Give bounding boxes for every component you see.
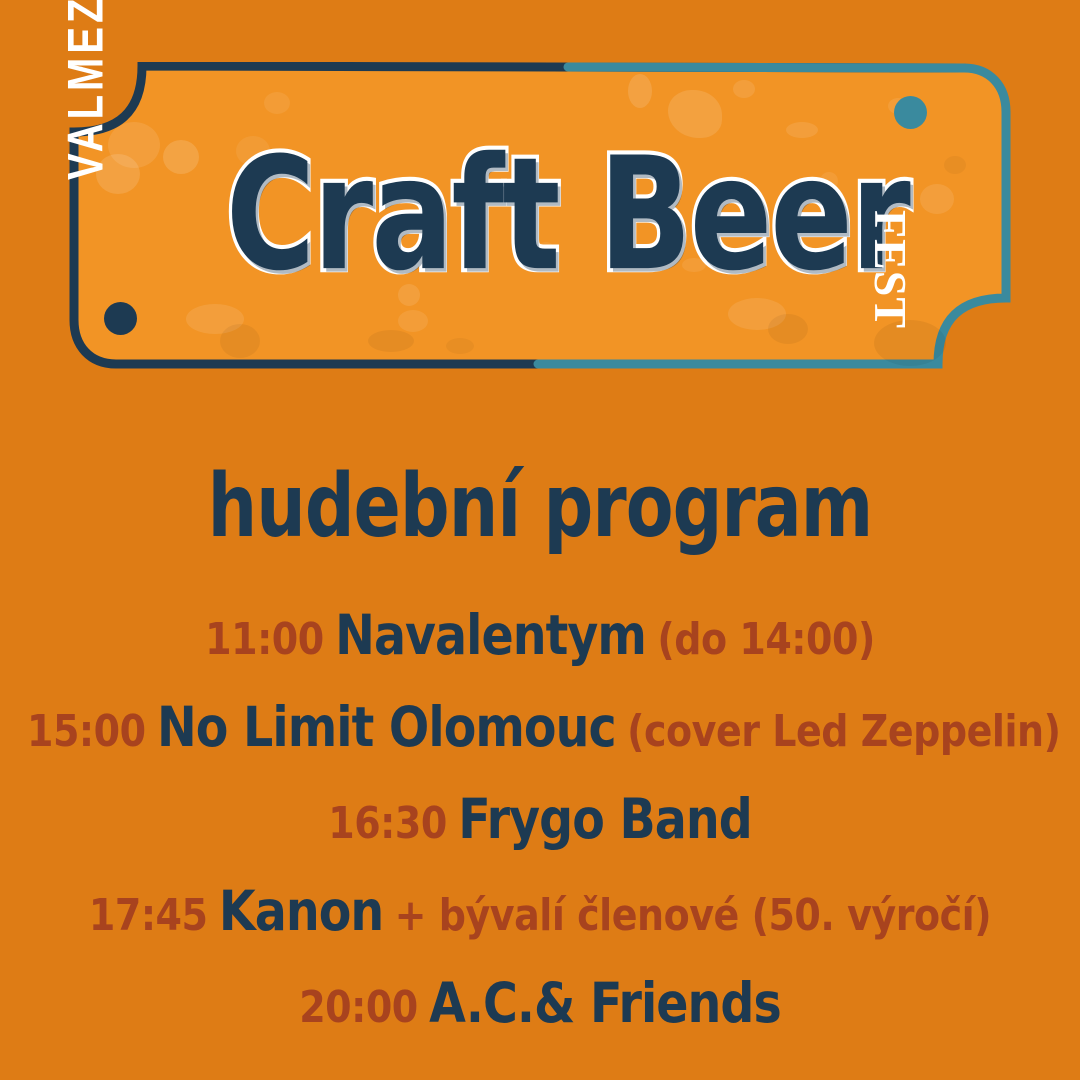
program-band: A.C.& Friends	[429, 972, 781, 1036]
program-time: 11:00	[205, 615, 324, 666]
program-row: 17:45Kanon+ bývalí členové (50. výročí)	[27, 867, 1053, 968]
program-row: 11:00Navalentym(do 14:00)	[27, 591, 1053, 692]
festival-logo: VALMEZ Craft Beer FEST	[68, 62, 1012, 370]
program-band: Frygo Band	[458, 788, 752, 852]
program-band: Navalentym	[335, 604, 646, 668]
logo-valmez-text: VALMEZ	[61, 0, 111, 180]
program-headline: hudební program	[32, 452, 1047, 561]
festival-sign-plaque: VALMEZ Craft Beer FEST	[68, 62, 1012, 370]
program-row: 20:00A.C.& Friends	[27, 959, 1053, 1060]
program-row: 16:30Frygo Band	[27, 775, 1053, 876]
program-list: 11:00Navalentym(do 14:00) 15:00No Limit …	[0, 596, 1080, 1056]
program-row: 15:00No Limit Olomouc(cover Led Zeppelin…	[27, 683, 1053, 784]
logo-title-text: Craft Beer	[226, 103, 833, 327]
program-time: 17:45	[89, 891, 208, 942]
program-note: (cover Led Zeppelin)	[627, 707, 1060, 758]
program-time: 20:00	[299, 983, 418, 1034]
program-time: 16:30	[328, 799, 447, 850]
program-note: (do 14:00)	[657, 615, 874, 666]
program-note: + bývalí členové (50. výročí)	[395, 891, 991, 942]
program-time: 15:00	[27, 707, 146, 758]
program-band: No Limit Olomouc	[157, 696, 616, 760]
logo-fest-text: FEST	[867, 210, 913, 329]
program-band: Kanon	[219, 880, 383, 944]
poster-canvas: VALMEZ Craft Beer FEST hudební program 1…	[0, 0, 1080, 1080]
